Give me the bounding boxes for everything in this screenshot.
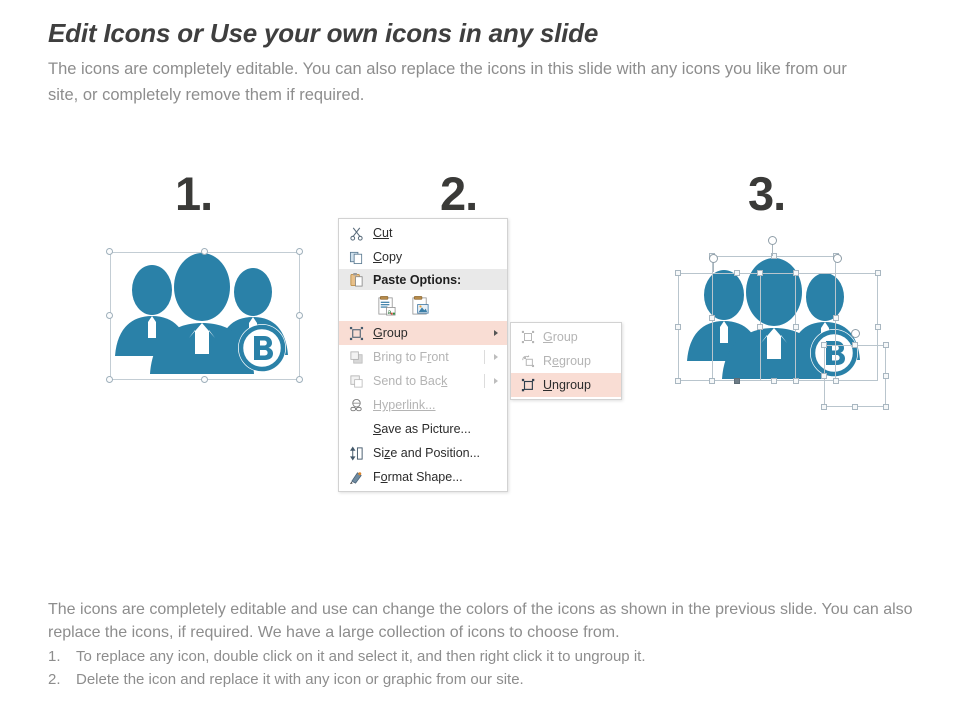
sub-handle[interactable]	[675, 378, 681, 384]
size-position-icon	[346, 444, 366, 462]
selection-handle-n[interactable]	[201, 248, 208, 255]
context-menu[interactable]: Cut Copy Paste Options:	[338, 218, 508, 492]
hyperlink-icon	[346, 396, 366, 414]
sub-handle[interactable]	[709, 378, 715, 384]
copy-icon	[346, 248, 366, 266]
menu-item-label: Bring to Front	[373, 350, 449, 364]
send-to-back-icon	[346, 372, 366, 390]
menu-item-group[interactable]: Group	[339, 321, 507, 345]
sub-handle[interactable]	[709, 315, 715, 321]
svg-text:a: a	[387, 309, 391, 316]
sub-handle[interactable]	[875, 324, 881, 330]
paste-keep-source-formatting-icon[interactable]: a	[375, 294, 397, 316]
footer-list: 1. To replace any icon, double click on …	[48, 645, 932, 691]
submenu-item-regroup[interactable]: Regroup	[511, 349, 621, 373]
sub-handle[interactable]	[757, 270, 763, 276]
bring-to-front-icon	[346, 348, 366, 366]
menu-item-label: Size and Position...	[373, 446, 480, 460]
list-item: 2. Delete the icon and replace it with a…	[48, 668, 932, 691]
selection-handle-ne[interactable]	[296, 248, 303, 255]
badge-handle[interactable]	[852, 404, 858, 410]
menu-divider	[484, 350, 485, 364]
selection-handle-e[interactable]	[296, 312, 303, 319]
chevron-right-icon	[494, 330, 498, 336]
step-number-2: 2.	[440, 170, 477, 217]
sub-handle[interactable]	[757, 324, 763, 330]
step-number-3: 3.	[748, 170, 785, 217]
badge-handle[interactable]	[883, 342, 889, 348]
rotation-stem	[713, 262, 714, 272]
menu-item-save-as-picture[interactable]: Save as Picture...	[339, 417, 507, 441]
rotation-stem	[772, 244, 773, 256]
chevron-right-icon	[494, 378, 498, 384]
sub-handle[interactable]	[675, 270, 681, 276]
sub-selection-frame-badge[interactable]	[824, 345, 886, 407]
list-item-number: 2.	[48, 668, 76, 691]
submenu-item-ungroup[interactable]: Ungroup	[511, 373, 621, 397]
menu-item-label: Group	[373, 326, 408, 340]
paste-options-row[interactable]: a	[339, 290, 507, 321]
selection-frame-grouped[interactable]	[110, 252, 300, 380]
rotation-handle-left[interactable]	[709, 254, 718, 263]
rotation-handle-right[interactable]	[833, 254, 842, 263]
menu-item-label: Save as Picture...	[373, 422, 471, 436]
sub-handle[interactable]	[875, 270, 881, 276]
sub-handle[interactable]	[793, 324, 799, 330]
page-subtitle: The icons are completely editable. You c…	[48, 56, 878, 108]
sub-handle[interactable]	[833, 315, 839, 321]
submenu-item-label: Ungroup	[543, 378, 591, 392]
paste-picture-icon[interactable]	[409, 294, 431, 316]
sub-handle[interactable]	[793, 378, 799, 384]
menu-item-label: Format Shape...	[373, 470, 463, 484]
list-item: 1. To replace any icon, double click on …	[48, 645, 932, 668]
page-title: Edit Icons or Use your own icons in any …	[48, 18, 928, 49]
slide-canvas: Edit Icons or Use your own icons in any …	[0, 0, 960, 720]
list-item-number: 1.	[48, 645, 76, 668]
submenu-item-label: Group	[543, 330, 578, 344]
clipboard-icon	[346, 271, 366, 289]
sub-handle[interactable]	[675, 324, 681, 330]
menu-item-label: Hyperlink...	[373, 398, 436, 412]
paste-options-label: Paste Options:	[373, 273, 461, 287]
sub-handle[interactable]	[734, 378, 740, 384]
list-item-text: Delete the icon and replace it with any …	[76, 668, 524, 691]
badge-handle[interactable]	[883, 404, 889, 410]
list-item-text: To replace any icon, double click on it …	[76, 645, 646, 668]
menu-item-label: Copy	[373, 250, 402, 264]
badge-handle[interactable]	[821, 342, 827, 348]
badge-handle[interactable]	[821, 404, 827, 410]
footer-paragraph: The icons are completely editable and us…	[48, 598, 932, 644]
selection-handle-nw[interactable]	[106, 248, 113, 255]
menu-item-label: Send to Back	[373, 374, 447, 388]
sub-handle[interactable]	[771, 378, 777, 384]
group-icon	[346, 324, 366, 342]
step-number-1: 1.	[175, 170, 212, 217]
submenu-item-label: Regroup	[543, 354, 591, 368]
scissors-icon	[346, 224, 366, 242]
menu-item-size-and-position[interactable]: Size and Position...	[339, 441, 507, 465]
menu-header-paste-options: Paste Options:	[339, 269, 507, 290]
selection-handle-sw[interactable]	[106, 376, 113, 383]
regroup-icon	[518, 352, 538, 370]
format-shape-icon	[346, 468, 366, 486]
menu-divider	[484, 374, 485, 388]
selection-handle-w[interactable]	[106, 312, 113, 319]
sub-handle[interactable]	[734, 270, 740, 276]
group-submenu[interactable]: Group Regroup	[510, 322, 622, 400]
rotation-handle-badge[interactable]	[851, 329, 860, 338]
selection-handle-s[interactable]	[201, 376, 208, 383]
submenu-item-group[interactable]: Group	[511, 325, 621, 349]
menu-item-send-to-back[interactable]: Send to Back	[339, 369, 507, 393]
sub-handle[interactable]	[793, 270, 799, 276]
badge-handle[interactable]	[852, 342, 858, 348]
menu-item-cut[interactable]: Cut	[339, 221, 507, 245]
menu-item-copy[interactable]: Copy	[339, 245, 507, 269]
badge-handle[interactable]	[883, 373, 889, 379]
ungroup-icon	[518, 376, 538, 394]
chevron-right-icon	[494, 354, 498, 360]
badge-handle[interactable]	[821, 373, 827, 379]
menu-item-label: Cut	[373, 226, 392, 240]
sub-handle[interactable]	[833, 378, 839, 384]
menu-item-hyperlink[interactable]: Hyperlink...	[339, 393, 507, 417]
menu-item-format-shape[interactable]: Format Shape...	[339, 465, 507, 489]
rotation-handle-center[interactable]	[768, 236, 777, 245]
selection-handle-se[interactable]	[296, 376, 303, 383]
menu-item-bring-to-front[interactable]: Bring to Front	[339, 345, 507, 369]
group-icon	[518, 328, 538, 346]
